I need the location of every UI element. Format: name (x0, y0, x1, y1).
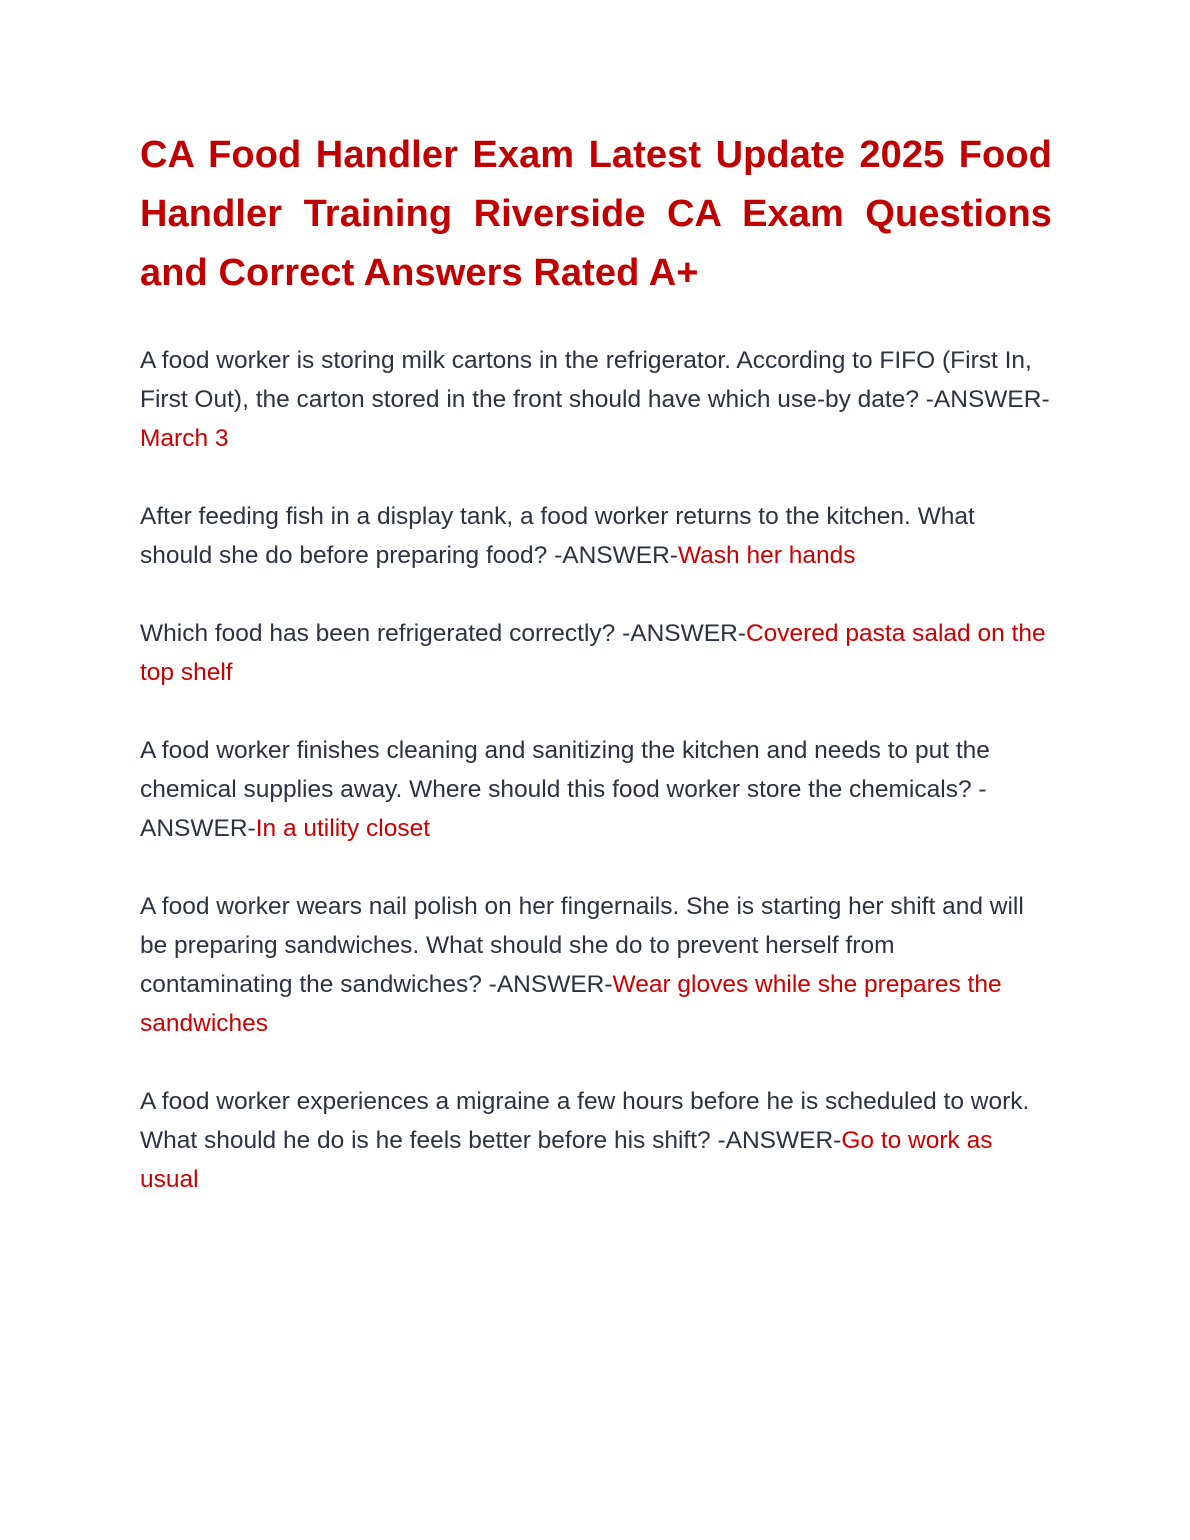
question-text: Which food has been refrigerated correct… (140, 620, 615, 647)
qa-item: After feeding fish in a display tank, a … (140, 497, 1052, 575)
question-answer-list: A food worker is storing milk cartons in… (140, 341, 1052, 1199)
qa-item: Which food has been refrigerated correct… (140, 614, 1052, 692)
answer-separator: -ANSWER- (482, 971, 613, 998)
document-content: CA Food Handler Exam Latest Update 2025 … (140, 126, 1052, 1199)
answer-text: March 3 (140, 425, 229, 452)
qa-item: A food worker wears nail polish on her f… (140, 887, 1052, 1043)
answer-separator: -ANSWER- (919, 386, 1050, 413)
question-text: A food worker is storing milk cartons in… (140, 347, 1032, 413)
qa-item: A food worker is storing milk cartons in… (140, 341, 1052, 458)
qa-item: A food worker experiences a migraine a f… (140, 1082, 1052, 1199)
answer-separator: -ANSWER- (547, 542, 678, 569)
qa-item: A food worker finishes cleaning and sani… (140, 731, 1052, 848)
document-page: CA Food Handler Exam Latest Update 2025 … (0, 0, 1190, 1540)
question-text: A food worker finishes cleaning and sani… (140, 737, 990, 803)
page-title: CA Food Handler Exam Latest Update 2025 … (140, 126, 1052, 303)
answer-separator: -ANSWER- (615, 620, 746, 647)
answer-separator: -ANSWER- (711, 1127, 842, 1154)
answer-text: Wash her hands (678, 542, 856, 569)
answer-text: In a utility closet (256, 815, 430, 842)
